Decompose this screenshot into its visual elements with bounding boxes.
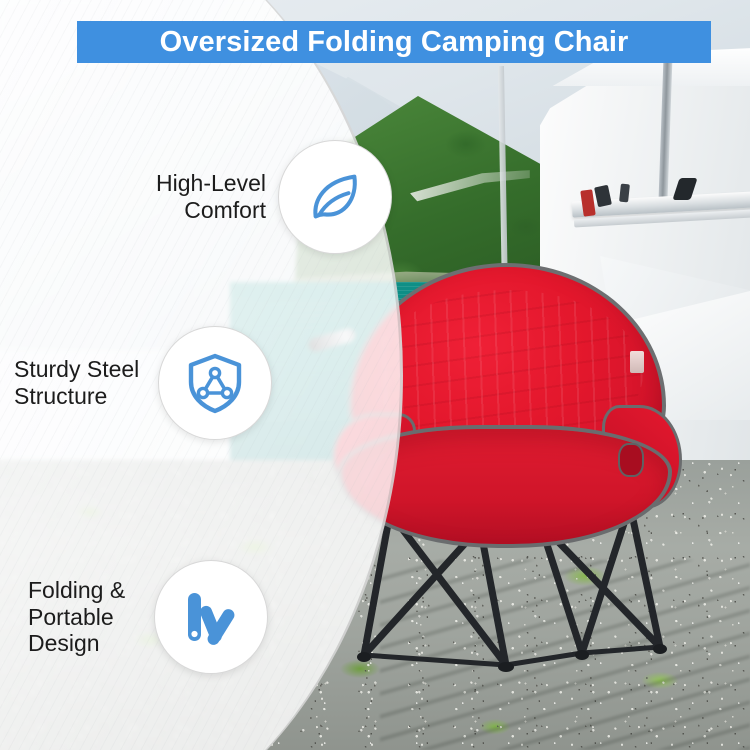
title-banner: Oversized Folding Camping Chair	[77, 21, 711, 63]
feature-label-folding: Folding & Portable Design	[28, 577, 146, 657]
folding-hinge-icon	[179, 585, 243, 649]
chair-side-pocket	[618, 443, 644, 477]
feature-high-level-comfort: High-Level Comfort	[146, 140, 392, 254]
rv-rail-clip-b	[619, 184, 630, 203]
shield-triangle-icon	[183, 351, 247, 415]
leaf-icon	[304, 166, 366, 228]
feature-badge-folding	[154, 560, 268, 674]
feature-label-steel: Sturdy Steel Structure	[14, 356, 152, 409]
feature-sturdy-steel-structure: Sturdy Steel Structure	[14, 326, 272, 440]
product-infographic: Oversized Folding Camping Chair High-Lev…	[0, 0, 750, 750]
feature-label-comfort: High-Level Comfort	[146, 170, 266, 223]
feature-badge-comfort	[278, 140, 392, 254]
feature-badge-steel	[158, 326, 272, 440]
page-title: Oversized Folding Camping Chair	[160, 28, 629, 57]
chair-brand-tag	[630, 351, 644, 373]
feature-folding-portable-design: Folding & Portable Design	[28, 560, 268, 674]
